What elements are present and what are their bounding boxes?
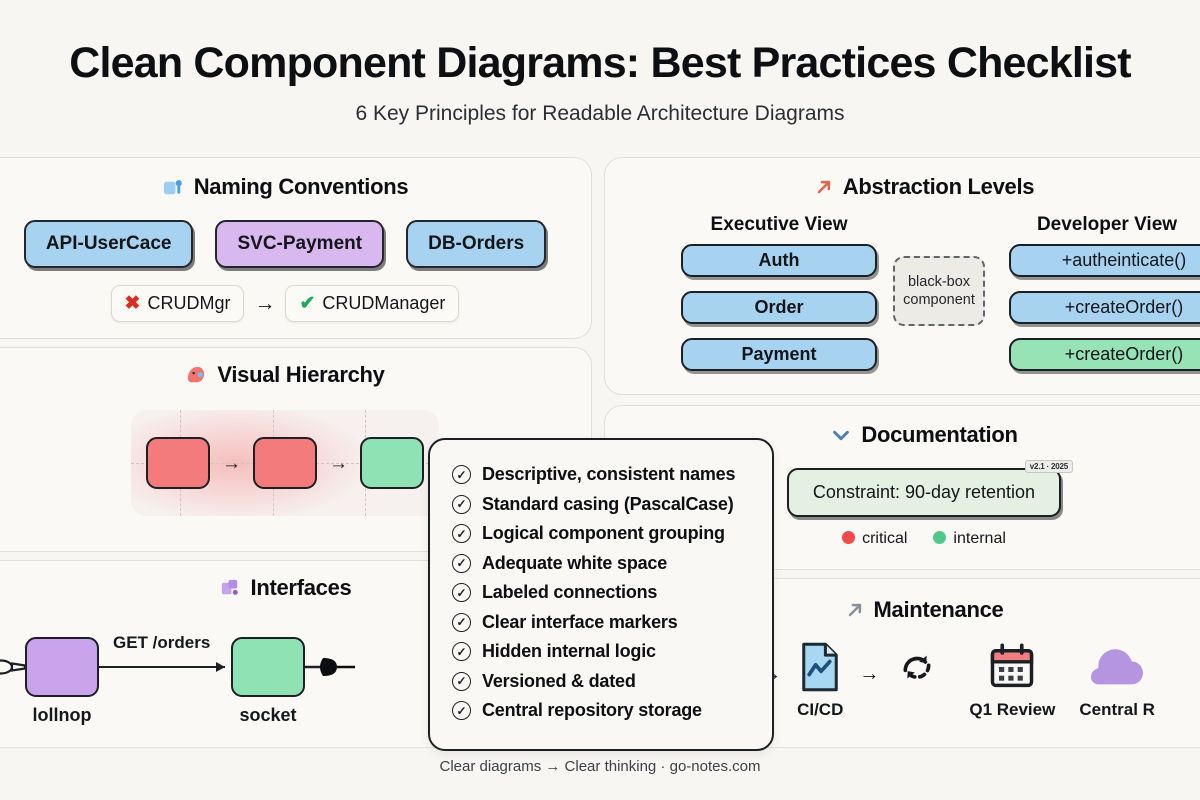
good-name-pill: ✔ CRUDManager xyxy=(285,285,459,322)
checklist-label: Logical component grouping xyxy=(482,523,725,544)
check-circle-icon: ✓ xyxy=(452,701,471,720)
maintenance-step-review: Q1 Review xyxy=(969,641,1055,720)
legend-dot-internal xyxy=(933,531,946,544)
lollipop-label: lollnop xyxy=(25,705,99,726)
legend-dot-critical xyxy=(842,531,855,544)
calendar-icon xyxy=(986,641,1038,693)
checklist-item[interactable]: ✓ Descriptive, consistent names xyxy=(452,460,750,490)
black-box-component: black-box component xyxy=(893,256,985,326)
checklist-item[interactable]: ✓ Standard casing (PascalCase) xyxy=(452,490,750,520)
component-chip[interactable]: SVC-Payment xyxy=(215,220,384,268)
black-box-line2: component xyxy=(903,291,975,309)
naming-fix-row: ✖ CRUDMgr → ✔ CRUDManager xyxy=(0,285,591,322)
constraint-box[interactable]: Constraint: 90-day retention v2.1 · 2025 xyxy=(787,468,1061,517)
best-practices-checklist-card: ✓ Descriptive, consistent names ✓ Standa… xyxy=(428,438,774,751)
maintenance-step-cicd: CI/CD xyxy=(797,641,843,720)
check-circle-icon: ✓ xyxy=(452,524,471,543)
component-chip[interactable]: DB-Orders xyxy=(406,220,546,268)
page-subtitle: 6 Key Principles for Readable Architectu… xyxy=(0,102,1200,126)
developer-view-heading: Developer View xyxy=(1009,214,1200,236)
documentation-title: Documentation xyxy=(861,422,1017,448)
legend-label-internal: internal xyxy=(953,530,1005,547)
poster-canvas: Clean Component Diagrams: Best Practices… xyxy=(0,0,1200,800)
naming-title-row: Naming Conventions xyxy=(0,174,591,200)
refresh-cycle-icon xyxy=(895,647,939,687)
check-circle-icon: ✓ xyxy=(452,613,471,632)
interface-consumer-box[interactable] xyxy=(231,637,305,697)
visual-hierarchy-title: Visual Hierarchy xyxy=(217,362,384,388)
check-circle-icon: ✓ xyxy=(452,672,471,691)
checklist-label: Labeled connections xyxy=(482,582,657,603)
executive-component[interactable]: Order xyxy=(681,291,877,324)
cross-icon: ✖ xyxy=(125,292,141,315)
hierarchy-box[interactable] xyxy=(360,437,424,489)
maintenance-caption: CI/CD xyxy=(797,700,843,720)
version-badge: v2.1 · 2025 xyxy=(1025,460,1073,473)
legend-label-critical: critical xyxy=(862,530,907,547)
arrow-right-icon: → xyxy=(254,292,275,316)
interfaces-title: Interfaces xyxy=(251,575,352,601)
component-chip[interactable]: API-UserCace xyxy=(24,220,194,268)
puzzle-icon xyxy=(219,577,242,600)
maintenance-step-repo: Central R xyxy=(1079,641,1155,720)
maintenance-caption: Q1 Review xyxy=(969,700,1055,720)
interface-provider-box[interactable] xyxy=(25,637,99,697)
poster-header: Clean Component Diagrams: Best Practices… xyxy=(0,0,1200,126)
checklist-item[interactable]: ✓ Central repository storage xyxy=(452,696,750,726)
black-box-line1: black-box xyxy=(908,273,970,291)
maintenance-title: Maintenance xyxy=(874,597,1004,623)
check-circle-icon: ✓ xyxy=(452,465,471,484)
checklist-item[interactable]: ✓ Adequate white space xyxy=(452,549,750,579)
checklist-label: Standard casing (PascalCase) xyxy=(482,494,734,515)
abstraction-columns: Executive View Developer View Auth Order… xyxy=(605,214,1200,382)
checklist-label: Descriptive, consistent names xyxy=(482,464,735,485)
bad-name-label: CRUDMgr xyxy=(147,293,230,314)
checklist-item[interactable]: ✓ Versioned & dated xyxy=(452,667,750,697)
maintenance-step-refresh xyxy=(895,641,939,694)
constraint-label: Constraint: 90-day retention xyxy=(813,482,1035,502)
visual-hierarchy-stage: → → xyxy=(131,410,439,516)
naming-chip-row: API-UserCace SVC-Payment DB-Orders xyxy=(0,220,591,268)
checklist-item[interactable]: ✓ Hidden internal logic xyxy=(452,637,750,667)
footer-tagline: Clear diagrams → Clear thinking · go-not… xyxy=(0,758,1200,775)
legend-item-internal: internal xyxy=(933,530,1005,548)
naming-title: Naming Conventions xyxy=(194,174,409,200)
label-tag-icon xyxy=(162,176,185,199)
developer-operation[interactable]: +createOrder() xyxy=(1009,291,1200,324)
checklist-item[interactable]: ✓ Logical component grouping xyxy=(452,519,750,549)
check-circle-icon: ✓ xyxy=(452,642,471,661)
bad-name-pill: ✖ CRUDMgr xyxy=(111,285,245,322)
panel-abstraction-levels: Abstraction Levels Executive View Develo… xyxy=(604,157,1200,395)
good-name-label: CRUDManager xyxy=(322,293,445,314)
checklist-label: Adequate white space xyxy=(482,553,667,574)
check-icon: ✔ xyxy=(299,292,315,315)
hierarchy-box[interactable] xyxy=(253,437,317,489)
arrow-right-icon: → xyxy=(222,454,241,473)
abstraction-title: Abstraction Levels xyxy=(843,174,1034,200)
maintenance-caption: Central R xyxy=(1079,700,1155,720)
chart-document-icon xyxy=(797,641,843,693)
executive-component[interactable]: Auth xyxy=(681,244,877,277)
up-right-arrow-icon xyxy=(814,177,834,197)
abstraction-title-row: Abstraction Levels xyxy=(605,174,1200,200)
connection-label: GET /orders xyxy=(113,633,210,653)
executive-component[interactable]: Payment xyxy=(681,338,877,371)
arrow-right-icon: → xyxy=(859,663,879,686)
legend-item-critical: critical xyxy=(842,530,907,548)
hierarchy-box[interactable] xyxy=(146,437,210,489)
developer-operation[interactable]: +createOrder() xyxy=(1009,338,1200,371)
check-circle-icon: ✓ xyxy=(452,554,471,573)
panel-naming-conventions: Naming Conventions API-UserCace SVC-Paym… xyxy=(0,157,592,339)
chevron-down-icon xyxy=(830,424,852,446)
check-circle-icon: ✓ xyxy=(452,583,471,602)
developer-operation[interactable]: +autheinticate() xyxy=(1009,244,1200,277)
checklist-label: Central repository storage xyxy=(482,700,702,721)
check-circle-icon: ✓ xyxy=(452,495,471,514)
page-title: Clean Component Diagrams: Best Practices… xyxy=(0,40,1200,87)
up-right-arrow-icon xyxy=(845,600,865,620)
arrow-right-icon: → xyxy=(329,454,348,473)
checklist-label: Versioned & dated xyxy=(482,671,636,692)
checklist-item[interactable]: ✓ Labeled connections xyxy=(452,578,750,608)
cloud-icon xyxy=(1086,641,1148,693)
checklist-item[interactable]: ✓ Clear interface markers xyxy=(452,608,750,638)
checklist-label: Hidden internal logic xyxy=(482,641,656,662)
executive-view-heading: Executive View xyxy=(681,214,877,236)
checklist-label: Clear interface markers xyxy=(482,612,678,633)
parrot-icon xyxy=(185,364,208,387)
socket-label: socket xyxy=(231,705,305,726)
visual-hierarchy-title-row: Visual Hierarchy xyxy=(0,362,591,388)
